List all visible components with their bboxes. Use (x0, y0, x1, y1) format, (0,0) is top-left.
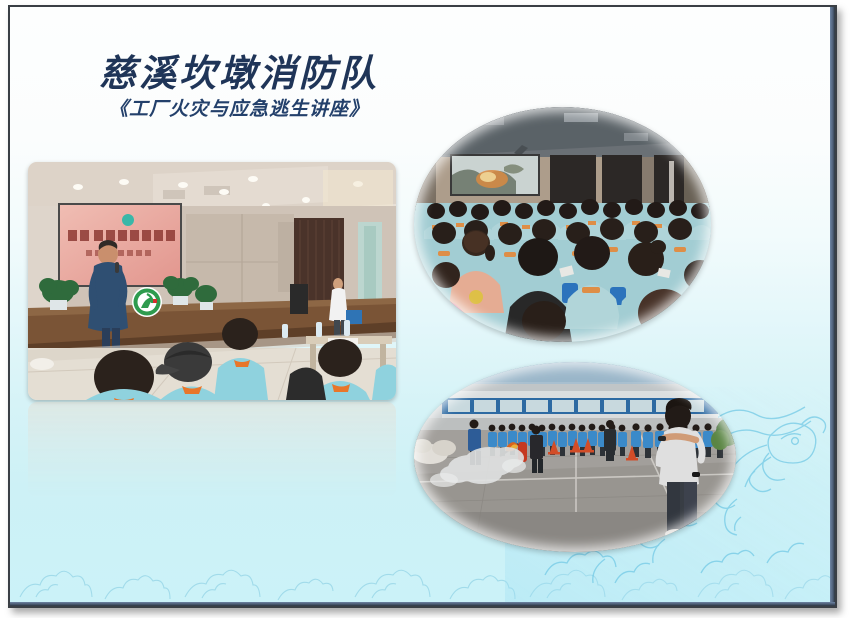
page-title: 慈溪坎墩消防队 (84, 55, 394, 93)
photo-lecture-hall-wrapper (28, 162, 396, 400)
title-block: 慈溪坎墩消防队 《工厂火灾与应急逃生讲座》 (84, 55, 394, 120)
photo-lecture-hall-reflection (28, 402, 396, 498)
page-subtitle: 《工厂火灾与应急逃生讲座》 (84, 99, 394, 120)
frame-edge-bottom (10, 602, 835, 606)
photo-audience-seated (414, 107, 711, 342)
frame-edge-right (830, 7, 835, 606)
photo-extinguisher-drill (414, 362, 736, 552)
photo-lecture-hall (28, 162, 396, 400)
slide-frame: 慈溪坎墩消防队 《工厂火灾与应急逃生讲座》 (8, 5, 837, 608)
